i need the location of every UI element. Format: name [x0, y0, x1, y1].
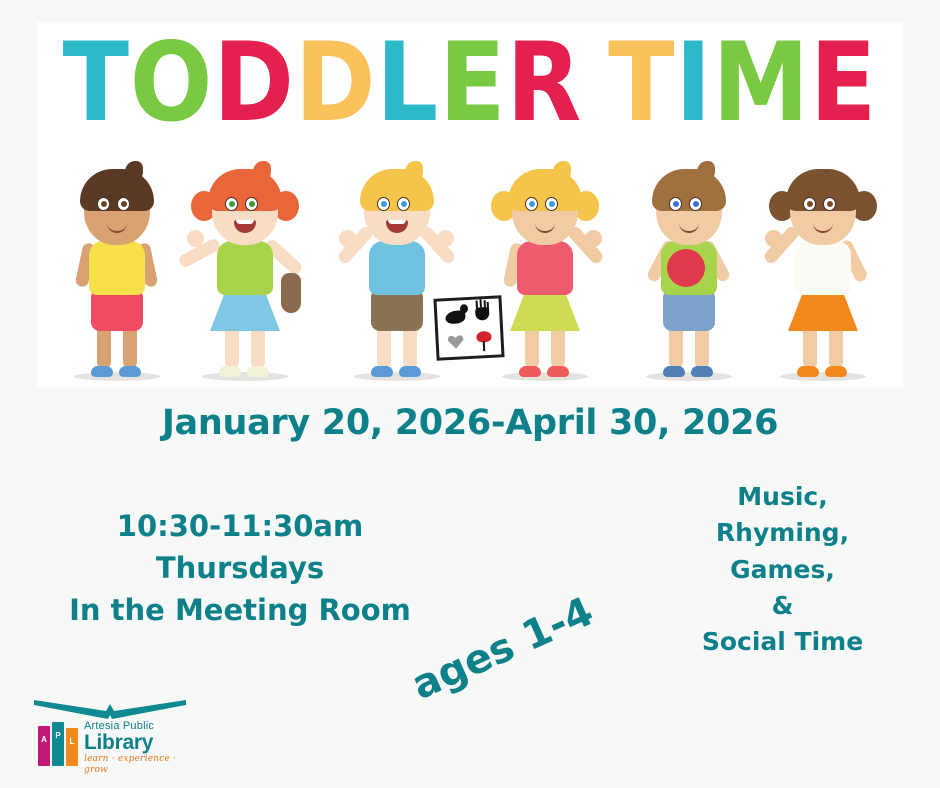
logo-wordmark: Artesia Public Library learn · experienc…	[84, 720, 196, 776]
shorts	[91, 291, 143, 331]
schedule-day: Thursdays	[25, 547, 455, 589]
shoe	[399, 366, 421, 377]
title-letter: D	[213, 28, 295, 137]
hair-tuft	[125, 161, 143, 181]
schedule-block: 10:30-11:30am Thursdays In the Meeting R…	[25, 505, 455, 631]
figure-shadow	[202, 372, 288, 381]
shirt	[89, 241, 145, 295]
shirt	[795, 241, 851, 295]
book-spine: A	[38, 726, 50, 766]
eye	[669, 197, 682, 211]
book-spine: P	[52, 722, 64, 766]
activity-item: Games,	[670, 552, 895, 588]
shirt	[369, 241, 425, 295]
shoe	[219, 366, 241, 377]
shoe	[371, 366, 393, 377]
ball-prop	[667, 249, 705, 287]
shorts	[663, 291, 715, 331]
flyer: TODDLER TIME January 20, 2026-April 30, …	[0, 0, 940, 788]
hand	[585, 230, 602, 247]
title-letter: R	[507, 28, 583, 137]
teddy-bear-prop	[281, 273, 301, 313]
activity-item: &	[670, 588, 895, 624]
activity-item: Music,	[670, 479, 895, 515]
kid-figure	[185, 164, 305, 379]
eye	[803, 197, 816, 211]
shoe	[663, 366, 685, 377]
title-letter: T	[608, 28, 675, 137]
hair-tuft	[405, 161, 423, 181]
activity-item: Social Time	[670, 624, 895, 660]
figure-shadow	[354, 372, 440, 381]
kid-figure	[629, 164, 749, 379]
flower-icon	[470, 328, 497, 352]
child-drawing-frame	[433, 295, 504, 360]
shoe	[797, 366, 819, 377]
eye	[245, 197, 258, 211]
hair-tuft	[553, 161, 571, 181]
book-spine: L	[66, 728, 78, 766]
hand	[339, 230, 356, 247]
title-letter: D	[295, 28, 377, 137]
title-letter: E	[810, 28, 877, 137]
eye	[397, 197, 410, 211]
skirt	[788, 291, 858, 331]
open-book-icon	[32, 698, 188, 720]
shoe	[547, 366, 569, 377]
eye	[225, 197, 238, 211]
title-letter: I	[675, 28, 712, 137]
logo-line-2: Library	[84, 732, 196, 754]
skirt	[510, 291, 580, 331]
figure-shadow	[780, 372, 866, 381]
logo-tagline: learn · experience · grow	[84, 754, 196, 776]
shirt	[217, 241, 273, 295]
title-letter	[582, 28, 608, 137]
figure-shadow	[74, 372, 160, 381]
flyer-title: TODDLER TIME	[37, 34, 903, 131]
shoe	[91, 366, 113, 377]
shoe	[519, 366, 541, 377]
eye	[97, 197, 110, 211]
hand	[765, 230, 782, 247]
hand	[187, 230, 204, 247]
hair-tuft	[697, 161, 715, 181]
activities-list: Music, Rhyming, Games, & Social Time	[670, 479, 895, 660]
illustration-panel: TODDLER TIME	[37, 22, 903, 387]
kid-figure	[763, 164, 883, 379]
schedule-time: 10:30-11:30am	[25, 505, 455, 547]
handprint-icon	[469, 303, 496, 327]
book-spines-icon: APL	[38, 722, 80, 766]
shoe	[825, 366, 847, 377]
figure-shadow	[502, 372, 588, 381]
title-letter: L	[376, 28, 439, 137]
book-spine-letter: P	[55, 731, 60, 740]
figure-shadow	[646, 372, 732, 381]
bird-icon	[441, 304, 468, 328]
skirt	[210, 291, 280, 331]
title-letter: E	[439, 28, 506, 137]
schedule-location: In the Meeting Room	[25, 589, 455, 631]
title-letter: T	[63, 28, 130, 137]
shoe	[691, 366, 713, 377]
eye	[545, 197, 558, 211]
title-letter: M	[712, 28, 810, 137]
book-spine-letter: A	[41, 735, 47, 744]
shoe	[247, 366, 269, 377]
date-range: January 20, 2026-April 30, 2026	[0, 403, 940, 443]
eye	[525, 197, 538, 211]
book-spine-letter: L	[70, 737, 75, 746]
eye	[823, 197, 836, 211]
activity-item: Rhyming,	[670, 515, 895, 551]
hand	[437, 230, 454, 247]
shirt	[517, 241, 573, 295]
shoe	[119, 366, 141, 377]
eye	[377, 197, 390, 211]
hair-tuft	[253, 161, 271, 181]
library-logo[interactable]: APL Artesia Public Library learn · exper…	[30, 698, 195, 770]
title-letter: O	[130, 28, 213, 137]
eye	[689, 197, 702, 211]
eye	[117, 197, 130, 211]
kid-figure	[57, 164, 177, 379]
heart-icon	[442, 329, 469, 353]
shorts	[371, 291, 423, 331]
